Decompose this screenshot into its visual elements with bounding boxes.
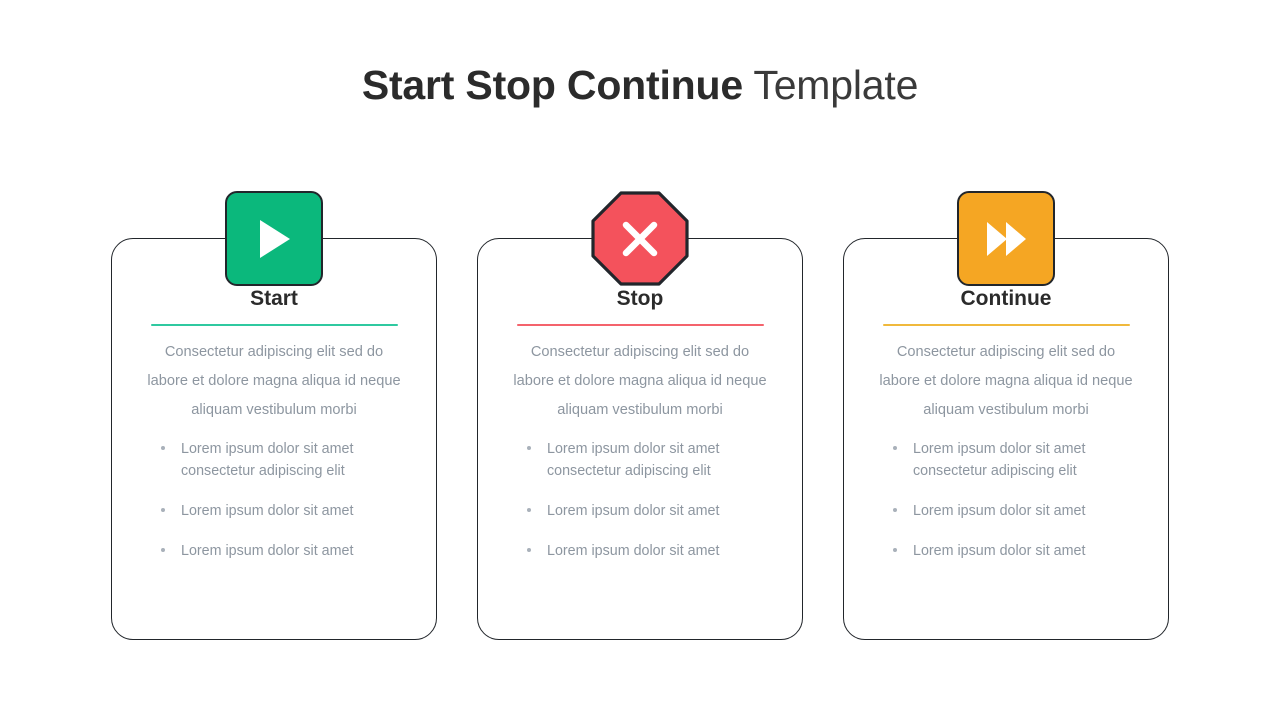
card-description-continue: Consectetur adipiscing elit sed do labor…	[877, 338, 1135, 425]
card-body-start: Start Consectetur adipiscing elit sed do…	[111, 238, 437, 640]
list-item-label: Lorem ipsum dolor sit amet consectetur a…	[913, 441, 1085, 479]
bullet-dot-icon	[161, 508, 165, 512]
list-item: Lorem ipsum dolor sit amet	[863, 500, 1149, 522]
bullet-dot-icon	[527, 548, 531, 552]
bullet-list-start: Lorem ipsum dolor sit amet consectetur a…	[131, 438, 417, 562]
list-item-label: Lorem ipsum dolor sit amet	[547, 543, 719, 559]
card-description-start: Consectetur adipiscing elit sed do labor…	[145, 338, 403, 425]
list-item-label: Lorem ipsum dolor sit amet	[547, 503, 719, 519]
bullet-list-continue: Lorem ipsum dolor sit amet consectetur a…	[863, 438, 1149, 562]
bullet-dot-icon	[893, 508, 897, 512]
list-item: Lorem ipsum dolor sit amet consectetur a…	[131, 438, 417, 482]
card-column-stop: Stop Consectetur adipiscing elit sed do …	[477, 191, 803, 661]
list-item: Lorem ipsum dolor sit amet consectetur a…	[497, 438, 783, 482]
fast-forward-icon	[983, 219, 1029, 259]
close-x-icon	[620, 219, 660, 259]
bullet-dot-icon	[161, 446, 165, 450]
card-column-start: Start Consectetur adipiscing elit sed do…	[111, 191, 437, 661]
card-description-stop: Consectetur adipiscing elit sed do labor…	[511, 338, 769, 425]
badge-continue[interactable]	[957, 191, 1055, 286]
list-item: Lorem ipsum dolor sit amet	[497, 540, 783, 562]
page-title: Start Stop Continue Template	[0, 62, 1280, 109]
card-title-continue: Continue	[863, 288, 1149, 309]
page-title-light: Template	[743, 62, 918, 108]
list-item-label: Lorem ipsum dolor sit amet	[913, 503, 1085, 519]
list-item-label: Lorem ipsum dolor sit amet	[181, 503, 353, 519]
bullet-dot-icon	[527, 446, 531, 450]
bullet-list-stop: Lorem ipsum dolor sit amet consectetur a…	[497, 438, 783, 562]
card-divider-start	[151, 324, 398, 326]
bullet-dot-icon	[527, 508, 531, 512]
card-divider-stop	[517, 324, 764, 326]
list-item: Lorem ipsum dolor sit amet	[131, 540, 417, 562]
list-item-label: Lorem ipsum dolor sit amet consectetur a…	[547, 441, 719, 479]
card-title-stop: Stop	[497, 288, 783, 309]
cards-container: Start Consectetur adipiscing elit sed do…	[0, 191, 1280, 661]
card-column-continue: Continue Consectetur adipiscing elit sed…	[843, 191, 1169, 661]
bullet-dot-icon	[161, 548, 165, 552]
bullet-dot-icon	[893, 548, 897, 552]
play-icon	[254, 217, 294, 261]
bullet-dot-icon	[893, 446, 897, 450]
list-item-label: Lorem ipsum dolor sit amet	[181, 543, 353, 559]
card-title-start: Start	[131, 288, 417, 309]
badge-stop[interactable]	[591, 191, 689, 286]
card-body-stop: Stop Consectetur adipiscing elit sed do …	[477, 238, 803, 640]
card-body-continue: Continue Consectetur adipiscing elit sed…	[843, 238, 1169, 640]
badge-start[interactable]	[225, 191, 323, 286]
list-item: Lorem ipsum dolor sit amet	[497, 500, 783, 522]
list-item: Lorem ipsum dolor sit amet	[863, 540, 1149, 562]
page-title-bold: Start Stop Continue	[362, 62, 743, 108]
list-item: Lorem ipsum dolor sit amet	[131, 500, 417, 522]
list-item-label: Lorem ipsum dolor sit amet consectetur a…	[181, 441, 353, 479]
card-divider-continue	[883, 324, 1130, 326]
list-item-label: Lorem ipsum dolor sit amet	[913, 543, 1085, 559]
list-item: Lorem ipsum dolor sit amet consectetur a…	[863, 438, 1149, 482]
